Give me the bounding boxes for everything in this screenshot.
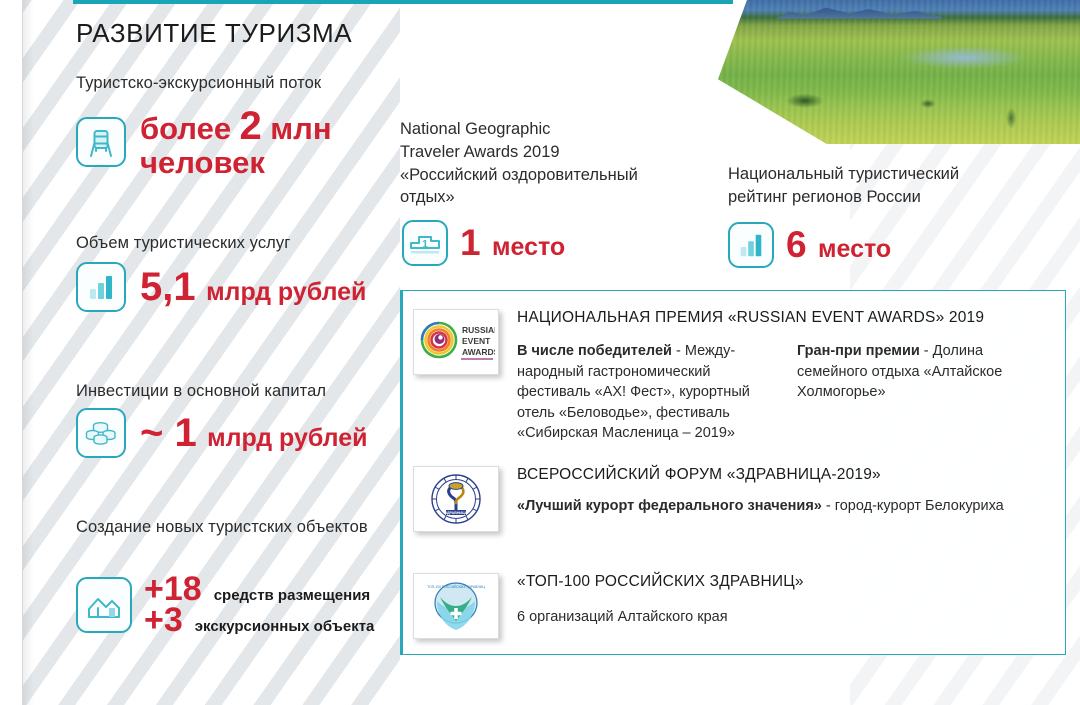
stat-value-number: ~ 1 (140, 411, 197, 455)
stat-row-tourist-flow: более 2 млн человек (76, 106, 332, 178)
panel-body-zdravnica-forum: «Лучший курорт федерального значения» - … (517, 498, 1062, 514)
top-accent-rule (73, 0, 733, 4)
awards-panel: RUSSIAN EVENT AWARDS НАЦИОНАЛЬНАЯ ПРЕМИЯ… (400, 290, 1066, 655)
stat-value-prefix: более (140, 111, 231, 146)
stat-value-number: 5,1 (140, 265, 196, 309)
bar-chart-icon (728, 222, 774, 268)
svg-text:ТОП-100 РОССИЙСКИХ ЗДРАВНИЦ: ТОП-100 РОССИЙСКИХ ЗДРАВНИЦ (427, 585, 485, 589)
stat-value-unit: млрд рублей (207, 424, 367, 452)
award-rating-place-word: место (818, 235, 891, 263)
panel-heading-zdravnica-forum: ВСЕРОССИЙСКИЙ ФОРУМ «ЗДРАВНИЦА-2019» (517, 466, 1062, 484)
stat-value-second-line: человек (140, 147, 332, 179)
award-natgeo-place-row: 1 1 место (402, 220, 565, 266)
svg-text:ЗДРАВНИЦА: ЗДРАВНИЦА (445, 511, 468, 515)
panel-col-winners-label: В числе победителей (517, 343, 672, 359)
left-edge-shadow (22, 0, 34, 705)
panel-row-top-100: ТОП-100 РОССИЙСКИХ ЗДРАВНИЦ «ТОП-100 РОС… (413, 573, 1062, 639)
house-icon (76, 577, 132, 633)
zdravnica-emblem-logo: ЗДРАВНИЦА (413, 466, 499, 532)
stat-value-unit: млн (270, 111, 331, 146)
podium-first-place-icon: 1 (402, 220, 448, 266)
landscape-photo (718, 0, 1080, 144)
svg-text:1: 1 (422, 239, 428, 251)
infographic-slide: РАЗВИТИЕ ТУРИЗМА Туристско-экскурсионный… (0, 0, 1080, 705)
panel-body-zdravnica-text: - город-курорт Белокуриха (822, 498, 1004, 514)
award-natgeo-line3: «Российский оздоровительный (400, 164, 700, 187)
page-title: РАЗВИТИЕ ТУРИЗМА (76, 18, 352, 49)
award-rating-place-row: 6 место (728, 222, 891, 268)
logo-line-1: RUSSIAN (462, 325, 495, 335)
award-natgeo-line1: National Geographic (400, 118, 700, 141)
logo-line-2: EVENT (462, 336, 491, 346)
award-natgeo-line2: Traveler Awards 2019 (400, 141, 700, 164)
award-rating-line2: рейтинг регионов России (728, 186, 1028, 209)
panel-heading-russian-event-awards: НАЦИОНАЛЬНАЯ ПРЕМИЯ «RUSSIAN EVENT AWARD… (517, 309, 1062, 327)
logo-line-3: AWARDS (462, 347, 495, 357)
stat-value-unit: млрд рублей (206, 278, 366, 306)
stat-row-services-volume: 5,1 млрд рублей (76, 262, 366, 312)
panel-col-grandprix-label: Гран-при премии (797, 343, 920, 359)
coins-icon (76, 408, 126, 458)
award-rating-text: Национальный туристический рейтинг регио… (728, 163, 1028, 209)
stat-value-excursion-text: экскурсионных объекта (195, 618, 375, 635)
award-rating-line1: Национальный туристический (728, 163, 1028, 186)
panel-heading-top-100: «ТОП-100 РОССИЙСКИХ ЗДРАВНИЦ» (517, 573, 1062, 591)
panel-row-russian-event-awards: RUSSIAN EVENT AWARDS НАЦИОНАЛЬНАЯ ПРЕМИЯ… (413, 309, 1062, 444)
left-gutter (0, 0, 23, 705)
stat-value-lodgings-text: средств размещения (214, 587, 371, 604)
bar-chart-icon (76, 262, 126, 312)
photo-mountains (776, 0, 943, 19)
stat-value-excursion-number: +3 (144, 603, 183, 638)
award-rating-place-number: 6 (786, 224, 807, 265)
russian-event-awards-logo: RUSSIAN EVENT AWARDS (413, 309, 499, 375)
panel-body-zdravnica-label: «Лучший курорт федерального значения» (517, 498, 822, 514)
stat-row-new-objects: +18 средств размещения +3 экскурсионных … (76, 572, 374, 637)
stat-label-tourist-flow: Туристско-экскурсионный поток (76, 72, 406, 94)
stat-label-capital-investment: Инвестиции в основной капитал (76, 380, 416, 402)
panel-col-winners: В числе победителей - Между-народный гас… (517, 341, 763, 444)
panel-col-grandprix: Гран-при премии - Долина семейного отдых… (797, 341, 1047, 444)
panel-body-top-100: 6 организаций Алтайского края (517, 609, 1062, 625)
award-natgeo-text: National Geographic Traveler Awards 2019… (400, 118, 700, 209)
panel-row-zdravnica-forum: ЗДРАВНИЦА ВСЕРОССИЙСКИЙ ФОРУМ «ЗДРАВНИЦА… (413, 466, 1062, 532)
stat-row-capital-investment: ~ 1 млрд рублей (76, 408, 368, 458)
award-natgeo-place-number: 1 (460, 222, 481, 263)
top100-health-logo: ТОП-100 РОССИЙСКИХ ЗДРАВНИЦ (413, 573, 499, 639)
award-natgeo-line4: отдых» (400, 186, 700, 209)
award-natgeo-place-word: место (492, 233, 565, 261)
bus-icon (76, 117, 126, 167)
stat-label-services-volume: Объем туристических услуг (76, 232, 406, 254)
stat-value-number: 2 (240, 104, 262, 148)
stat-label-new-objects: Создание новых туристских объектов (76, 516, 406, 538)
